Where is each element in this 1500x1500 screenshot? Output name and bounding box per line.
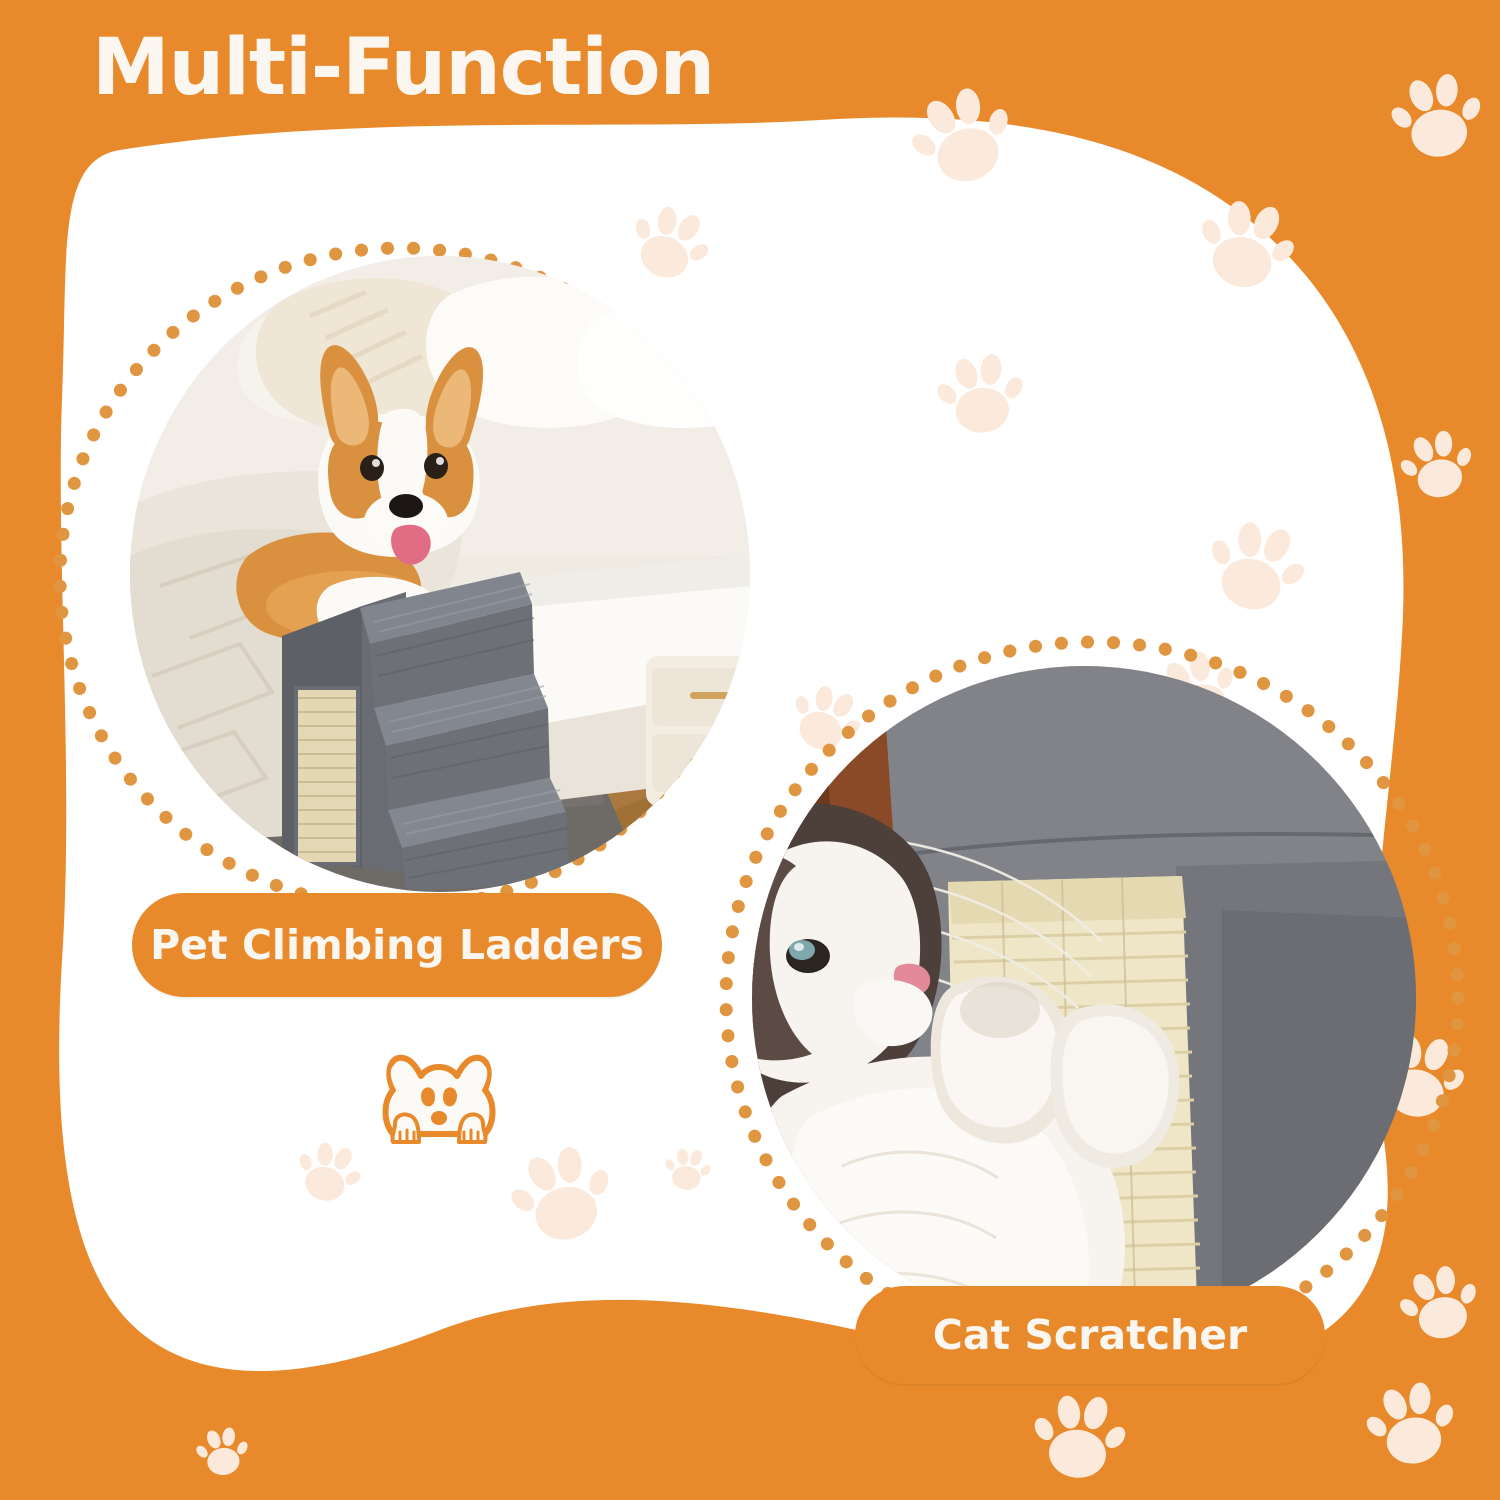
badge-label: Pet Climbing Ladders <box>150 921 644 969</box>
badge-pet-climbing-ladders[interactable]: Pet Climbing Ladders <box>132 893 662 997</box>
badge-cat-scratcher[interactable]: Cat Scratcher <box>855 1286 1325 1384</box>
photo-pet-climbing-ladders <box>130 256 750 892</box>
card-pet-climbing-ladders: Pet Climbing Ladders <box>38 236 778 926</box>
badge-label: Cat Scratcher <box>933 1311 1247 1359</box>
card-cat-scratcher: Cat Scratcher <box>700 628 1490 1388</box>
marketing-banner: Pet Climbing Ladders <box>0 0 1500 1500</box>
page-title: Multi-Function <box>92 26 714 112</box>
dog-face-icon <box>371 1048 507 1148</box>
photo-cat-scratcher <box>752 666 1416 1330</box>
